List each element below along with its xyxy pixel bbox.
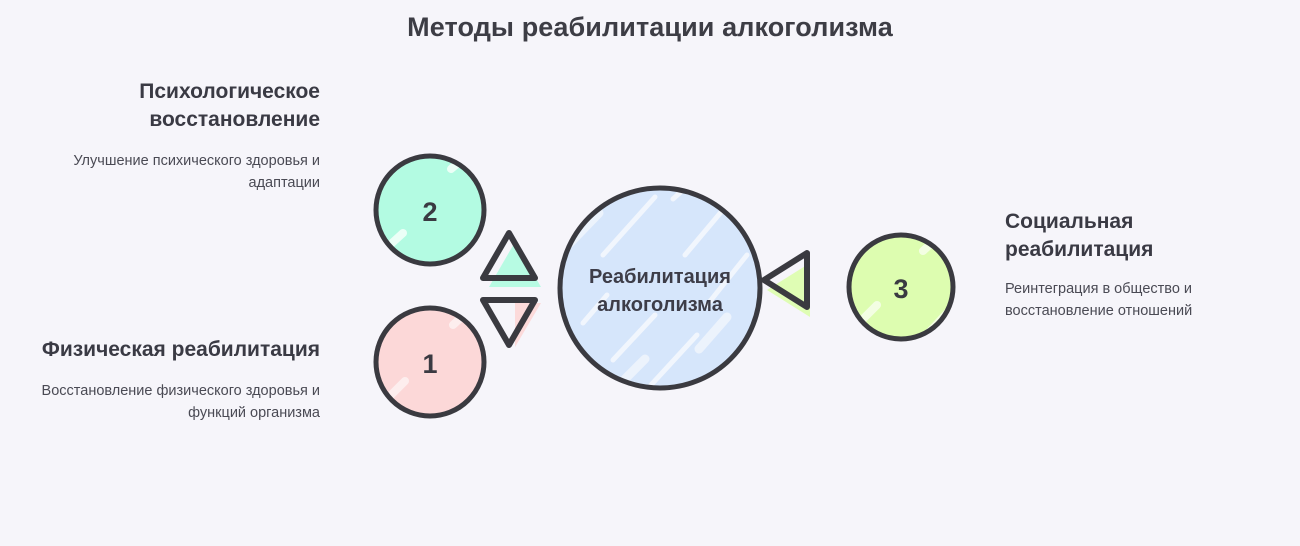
center-node: Реабилитация алкоголизма: [560, 180, 760, 388]
node-1-number: 1: [422, 349, 437, 379]
node-3-number: 3: [893, 274, 908, 304]
description-psychological: Улучшение психического здоровья и адапта…: [20, 150, 320, 194]
infographic-canvas: Методы реабилитации алкоголизма Психолог…: [0, 0, 1300, 546]
diagram-graphic: Реабилитация алкоголизма 2: [355, 135, 975, 435]
node-1[interactable]: 1: [373, 303, 484, 417]
triangle-left-icon: [764, 253, 810, 317]
text-block-social: Социальная реабилитация Реинтеграция в о…: [1005, 208, 1255, 322]
node-3[interactable]: 3: [847, 229, 953, 341]
center-label-line1: Реабилитация: [589, 266, 731, 288]
heading-physical: Физическая реабилитация: [20, 336, 320, 364]
triangle-down-icon: [483, 300, 541, 347]
center-label-line2: алкоголизма: [597, 294, 724, 316]
text-block-physical: Физическая реабилитация Восстановление ф…: [20, 336, 320, 424]
description-physical: Восстановление физического здоровья и фу…: [20, 380, 320, 424]
triangle-up-icon: [483, 233, 541, 287]
node-2-number: 2: [422, 197, 437, 227]
heading-social: Социальная реабилитация: [1005, 208, 1255, 264]
node-2[interactable]: 2: [371, 149, 487, 264]
heading-psychological: Психологическое восстановление: [20, 78, 320, 134]
description-social: Реинтеграция в общество и восстановление…: [1005, 278, 1255, 322]
page-title: Методы реабилитации алкоголизма: [0, 12, 1300, 43]
text-block-psychological: Психологическое восстановление Улучшение…: [20, 78, 320, 194]
